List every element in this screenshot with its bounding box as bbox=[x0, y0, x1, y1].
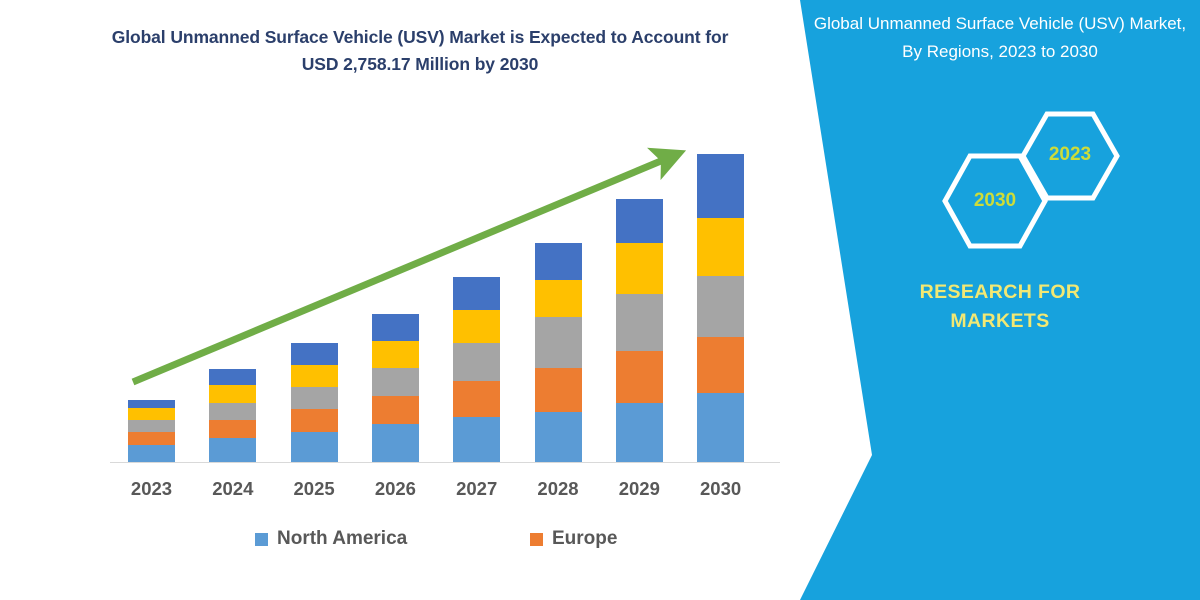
x-tick-2023: 2023 bbox=[117, 478, 187, 500]
stacked-bar-2026 bbox=[372, 314, 419, 462]
brand-panel-content: Global Unmanned Surface Vehicle (USV) Ma… bbox=[800, 0, 1200, 600]
x-tick-2029: 2029 bbox=[604, 478, 674, 500]
bar-segment-2025-series-4 bbox=[291, 365, 338, 387]
brand-name-line-2: MARKETS bbox=[800, 307, 1200, 336]
bar-segment-2024-north-america bbox=[209, 438, 256, 462]
x-tick-2026: 2026 bbox=[360, 478, 430, 500]
bar-segment-2027-north-america bbox=[453, 417, 500, 462]
bar-segment-2029-europe bbox=[616, 351, 663, 403]
bar-segment-2023-europe bbox=[128, 432, 175, 445]
stacked-bar-2028 bbox=[535, 243, 582, 462]
bar-segment-2028-series-4 bbox=[535, 280, 582, 317]
bar-segment-2029-north-america bbox=[616, 403, 663, 462]
bar-segment-2024-europe bbox=[209, 420, 256, 438]
legend-item-north-america[interactable]: North America bbox=[255, 528, 407, 550]
bar-segment-2030-series-5 bbox=[697, 154, 744, 218]
chart-panel: Global Unmanned Surface Vehicle (USV) Ma… bbox=[0, 0, 800, 600]
legend-label: North America bbox=[277, 528, 407, 550]
stacked-bar-2023 bbox=[128, 400, 175, 462]
bar-segment-2024-series-3 bbox=[209, 403, 256, 420]
bar-segment-2026-europe bbox=[372, 396, 419, 424]
bar-segment-2025-series-3 bbox=[291, 387, 338, 409]
bar-segment-2026-series-4 bbox=[372, 341, 419, 368]
bar-segment-2028-series-5 bbox=[535, 243, 582, 280]
x-tick-2030: 2030 bbox=[686, 478, 756, 500]
bar-segment-2023-north-america bbox=[128, 445, 175, 462]
legend-label: Europe bbox=[552, 528, 617, 550]
bar-segment-2030-series-3 bbox=[697, 276, 744, 337]
bar-segment-2023-series-4 bbox=[128, 408, 175, 420]
bar-segment-2026-series-5 bbox=[372, 314, 419, 341]
brand-name-line-1: RESEARCH FOR bbox=[800, 278, 1200, 307]
bar-segment-2025-europe bbox=[291, 409, 338, 432]
infographic-root: Global Unmanned Surface Vehicle (USV) Ma… bbox=[0, 0, 1200, 600]
chart-legend: North AmericaEurope bbox=[110, 528, 780, 560]
x-tick-2025: 2025 bbox=[279, 478, 349, 500]
stacked-bar-2029 bbox=[616, 199, 663, 462]
bar-segment-2027-series-4 bbox=[453, 310, 500, 343]
legend-swatch-icon bbox=[255, 533, 268, 546]
bar-segment-2023-series-3 bbox=[128, 420, 175, 432]
x-tick-2024: 2024 bbox=[198, 478, 268, 500]
bar-segment-2023-series-5 bbox=[128, 400, 175, 408]
stacked-bar-2027 bbox=[453, 277, 500, 462]
bar-segment-2029-series-3 bbox=[616, 294, 663, 351]
growth-trend-arrow bbox=[0, 0, 800, 600]
bar-segment-2025-north-america bbox=[291, 432, 338, 462]
bar-segment-2029-series-4 bbox=[616, 243, 663, 294]
bar-segment-2024-series-4 bbox=[209, 385, 256, 403]
stacked-bar-2024 bbox=[209, 369, 256, 462]
bar-segment-2026-north-america bbox=[372, 424, 419, 462]
bar-segment-2030-series-4 bbox=[697, 218, 744, 276]
legend-swatch-icon bbox=[530, 533, 543, 546]
bar-segment-2027-europe bbox=[453, 381, 500, 417]
bar-segment-2026-series-3 bbox=[372, 368, 419, 396]
brand-name: RESEARCH FOR MARKETS bbox=[800, 278, 1200, 337]
bar-segment-2028-europe bbox=[535, 368, 582, 412]
bar-segment-2030-north-america bbox=[697, 393, 744, 462]
bar-segment-2025-series-5 bbox=[291, 343, 338, 365]
stacked-bar-2030 bbox=[697, 154, 744, 462]
x-tick-2027: 2027 bbox=[442, 478, 512, 500]
bar-segment-2027-series-5 bbox=[453, 277, 500, 310]
bar-segment-2028-series-3 bbox=[535, 317, 582, 368]
stacked-bar-2025 bbox=[291, 343, 338, 462]
brand-panel-title: Global Unmanned Surface Vehicle (USV) Ma… bbox=[810, 10, 1190, 65]
bar-segment-2024-series-5 bbox=[209, 369, 256, 385]
x-tick-2028: 2028 bbox=[523, 478, 593, 500]
x-axis-line bbox=[110, 462, 780, 463]
legend-item-europe[interactable]: Europe bbox=[530, 528, 617, 550]
bar-segment-2027-series-3 bbox=[453, 343, 500, 381]
bar-segment-2029-series-5 bbox=[616, 199, 663, 243]
hexagon-2023-label: 2023 bbox=[1018, 144, 1122, 166]
plot-area: 20232024202520262027202820292030 bbox=[0, 0, 800, 600]
bar-segment-2028-north-america bbox=[535, 412, 582, 462]
bar-segment-2030-europe bbox=[697, 337, 744, 393]
